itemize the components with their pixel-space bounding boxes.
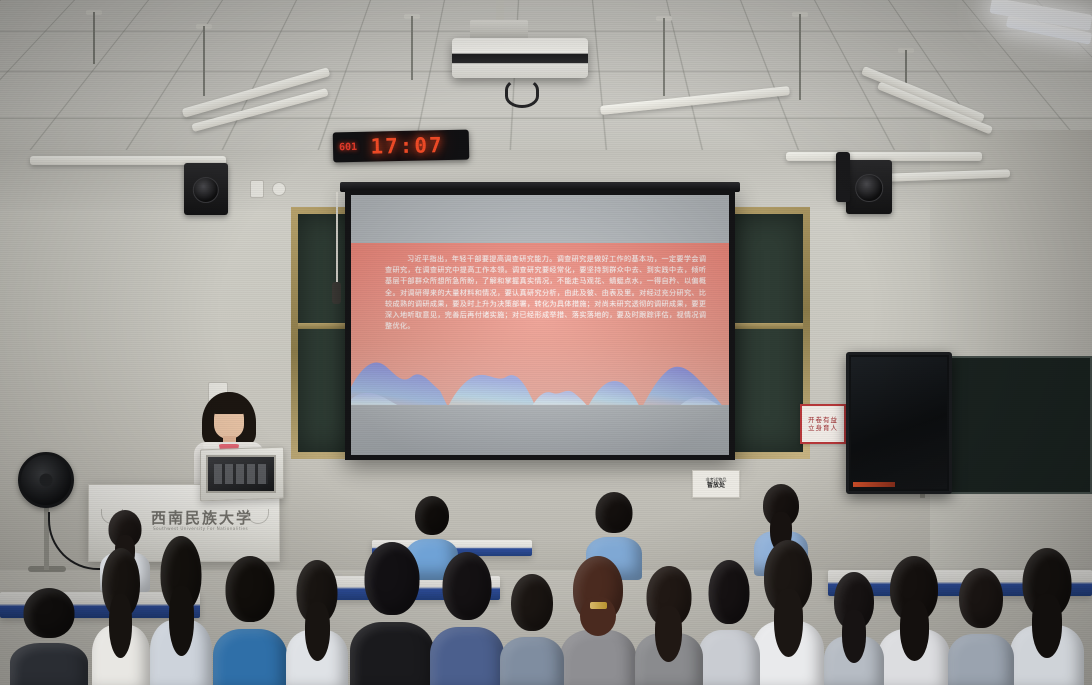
chalkboard-right	[724, 207, 810, 459]
screen-lower-band	[351, 405, 729, 455]
projector-cable	[505, 78, 539, 108]
light-rod	[203, 26, 205, 96]
audience-student	[698, 560, 760, 685]
calligraphy-line2: 立身育人	[808, 424, 838, 432]
screen-pull-handle[interactable]	[332, 282, 341, 304]
right-wall-board	[930, 356, 1092, 494]
led-clock-display: 601 17:07	[333, 130, 470, 163]
slide-body-text: 习近平指出，年轻干部要提高调查研究能力。调查研究是做好工作的基本功，一定要学会调…	[385, 253, 706, 331]
exam-notice-sign: 非考试物品 暂放处	[692, 470, 740, 498]
projector-pipe	[496, 0, 504, 22]
student-ponytail	[305, 602, 330, 661]
audience-student	[92, 548, 150, 685]
ceiling-projector	[452, 38, 588, 78]
screen-pull-cord[interactable]	[336, 192, 338, 284]
student-head	[226, 556, 275, 622]
hair-clip-icon	[590, 602, 607, 609]
student-body	[500, 637, 564, 685]
audience-student	[150, 536, 212, 685]
speaker-cone-icon	[193, 177, 219, 203]
student-body	[10, 643, 88, 685]
student-ponytail	[900, 600, 929, 661]
student-body	[350, 622, 434, 685]
wall-speaker-right	[846, 160, 892, 214]
wall-outlet	[250, 180, 264, 198]
student-head	[511, 574, 553, 631]
student-body	[560, 630, 636, 685]
venue-name-en: Southwest University For Nationalities	[153, 526, 248, 531]
audience-student	[430, 552, 504, 685]
student-head	[365, 542, 420, 615]
wall-display-monitor[interactable]	[846, 352, 952, 494]
student-head	[959, 568, 1003, 628]
wall-speaker-left	[184, 163, 228, 215]
student-body	[430, 627, 504, 685]
monitor-panel	[851, 357, 947, 489]
clock-room-number: 601	[339, 141, 357, 152]
student-ponytail	[169, 586, 194, 656]
student-body	[213, 629, 287, 685]
student-ponytail	[774, 589, 803, 657]
student-head	[24, 588, 75, 638]
student-body	[948, 634, 1014, 685]
student-head	[415, 496, 449, 535]
wall-right-column	[930, 130, 1092, 570]
monitor-status-bar	[853, 482, 895, 487]
audience-student	[500, 574, 564, 685]
wall-speaker-right-side	[836, 152, 850, 202]
wall-switch	[272, 182, 286, 196]
clock-time: 17:07	[357, 133, 457, 159]
student-head	[709, 560, 750, 624]
presenter-bangs	[211, 398, 247, 414]
projection-screen: 习近平指出，年轻干部要提高调查研究能力。调查研究是做好工作的基本功，一定要学会调…	[345, 190, 735, 460]
student-body	[698, 630, 760, 685]
audience-student	[878, 556, 950, 685]
calligraphy-sign: 开卷有益 立身育人	[800, 404, 846, 444]
light-rod	[663, 18, 665, 96]
light-rod	[799, 14, 801, 100]
projection-screen-canvas: 习近平指出，年轻干部要提高调查研究能力。调查研究是做好工作的基本功，一定要学会调…	[351, 195, 729, 455]
lectern-keyboard[interactable]	[214, 464, 268, 484]
audience-student	[350, 542, 434, 685]
student-ponytail	[842, 610, 866, 663]
classroom-scene: 601 17:07 习近平指出，年轻干部要提高调查研究能力。调查研究是做好工作的…	[0, 0, 1092, 685]
audience-student	[1010, 548, 1084, 685]
audience-student	[752, 540, 824, 685]
audience-student	[824, 572, 884, 685]
projector-mount	[470, 20, 528, 40]
exam-notice-line2: 暂放处	[707, 483, 725, 490]
audience-student	[10, 588, 88, 685]
audience-student	[948, 568, 1014, 685]
audience-student	[635, 566, 703, 685]
presentation-slide: 习近平指出，年轻干部要提高调查研究能力。调查研究是做好工作的基本功，一定要学会调…	[351, 243, 729, 415]
student-head	[443, 552, 492, 620]
speaker-cone-icon	[855, 174, 883, 202]
audience-student	[560, 556, 636, 685]
student-head	[596, 492, 633, 533]
audience-student	[213, 556, 287, 685]
pedestal-fan-icon[interactable]	[18, 452, 74, 508]
calligraphy-line1: 开卷有益	[808, 416, 838, 424]
light-rod	[411, 16, 413, 80]
light-rod	[93, 12, 95, 64]
audience-student	[286, 560, 348, 685]
venue-name: 西南民族大学	[151, 507, 253, 528]
